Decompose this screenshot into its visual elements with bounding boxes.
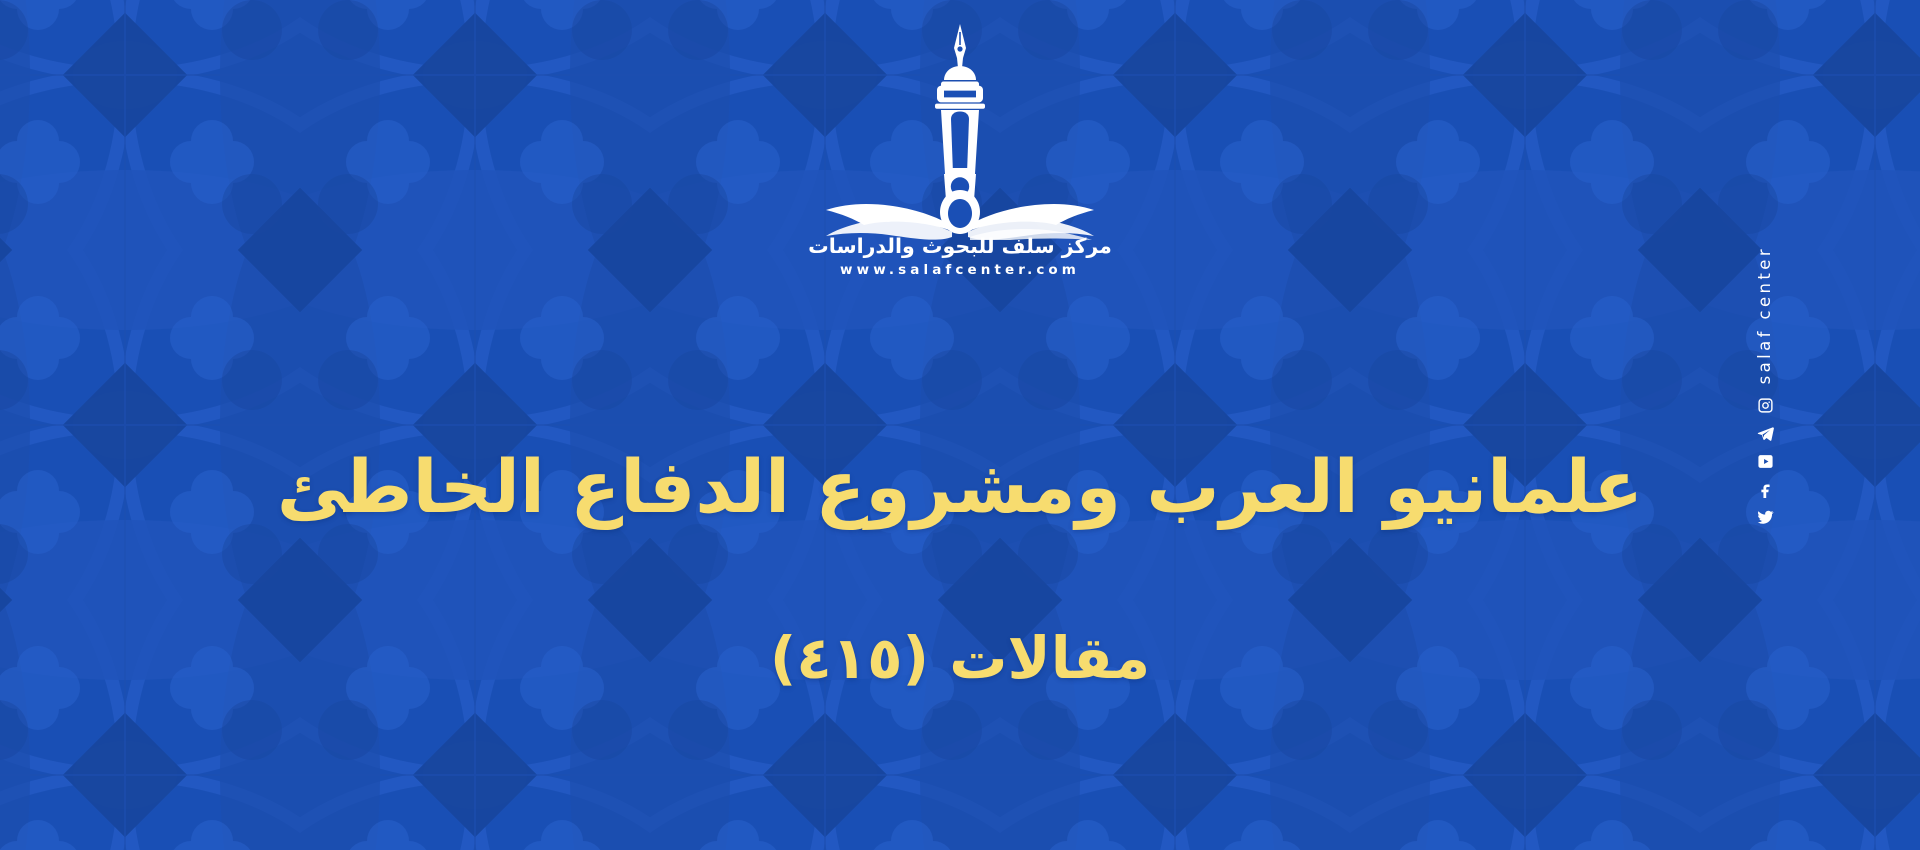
- social-rail-label: salaf center: [1757, 246, 1774, 384]
- article-count-subtitle: مقالات (٤١٥): [0, 624, 1920, 694]
- minaret-pen-book-logo-icon: [820, 18, 1100, 240]
- instagram-icon[interactable]: [1757, 397, 1774, 414]
- facebook-icon[interactable]: [1757, 481, 1774, 498]
- twitter-icon[interactable]: [1757, 509, 1774, 526]
- banner-canvas: مركز سلف للبحوث والدراسات www.salafcente…: [0, 0, 1920, 850]
- logo-lockup: مركز سلف للبحوث والدراسات www.salafcente…: [745, 18, 1175, 277]
- telegram-icon[interactable]: [1757, 425, 1774, 442]
- youtube-icon[interactable]: [1757, 453, 1774, 470]
- logo-website-url: www.salafcenter.com: [840, 264, 1080, 278]
- page-title: علمانيو العرب ومشروع الدفاع الخاطئ: [0, 445, 1920, 531]
- social-icon-list: [1757, 397, 1774, 526]
- social-rail: salaf center: [1748, 246, 1782, 606]
- logo-organization-name: مركز سلف للبحوث والدراسات: [808, 236, 1112, 257]
